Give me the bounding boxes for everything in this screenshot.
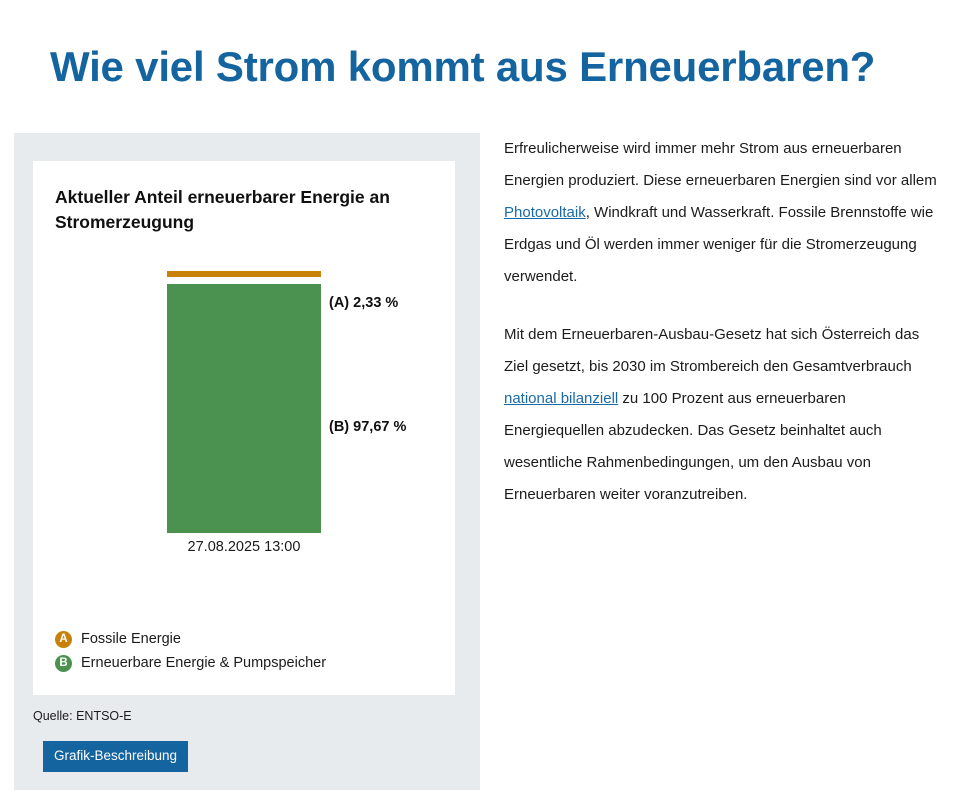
legend-item-fossil[interactable]: A Fossile Energie — [55, 627, 445, 651]
paragraph-2-text-before-link: Mit dem Erneuerbaren-Ausbau-Gesetz hat s… — [504, 326, 919, 375]
bar-segment-fossil[interactable] — [167, 271, 321, 277]
bar-label-fossil: (A) 2,33 % — [329, 295, 398, 311]
legend-badge-a-icon: A — [55, 631, 72, 648]
paragraph-1-text-before-link: Erfreulicherweise wird immer mehr Strom … — [504, 140, 937, 189]
chart-description-button[interactable]: Grafik-Beschreibung — [43, 741, 188, 772]
legend-label-fossil: Fossile Energie — [81, 631, 181, 647]
chart-plot-area: (A) 2,33 % (B) 97,67 % 27.08.2025 13:00 — [33, 161, 455, 695]
chart-card: Aktueller Anteil erneuerbarer Energie an… — [33, 161, 455, 695]
article-paragraph-1: Erfreulicherweise wird immer mehr Strom … — [504, 133, 944, 293]
article-text: Erfreulicherweise wird immer mehr Strom … — [504, 133, 944, 537]
legend-badge-b-icon: B — [55, 655, 72, 672]
link-photovoltaik[interactable]: Photovoltaik — [504, 204, 586, 221]
bar-label-renewable: (B) 97,67 % — [329, 419, 406, 435]
stacked-bar[interactable] — [167, 271, 321, 533]
page-title: Wie viel Strom kommt aus Erneuerbaren? — [50, 42, 950, 92]
article-paragraph-2: Mit dem Erneuerbaren-Ausbau-Gesetz hat s… — [504, 319, 944, 511]
x-axis-tick-label: 27.08.2025 13:00 — [167, 539, 321, 555]
legend-label-renewable: Erneuerbare Energie & Pumpspeicher — [81, 655, 326, 671]
chart-legend: A Fossile Energie B Erneuerbare Energie … — [55, 627, 445, 675]
chart-panel: Aktueller Anteil erneuerbarer Energie an… — [14, 133, 480, 790]
bar-segment-renewable[interactable] — [167, 284, 321, 533]
legend-item-renewable[interactable]: B Erneuerbare Energie & Pumpspeicher — [55, 651, 445, 675]
link-national-bilanziell[interactable]: national bilanziell — [504, 390, 618, 407]
chart-source: Quelle: ENTSO-E — [33, 709, 132, 723]
